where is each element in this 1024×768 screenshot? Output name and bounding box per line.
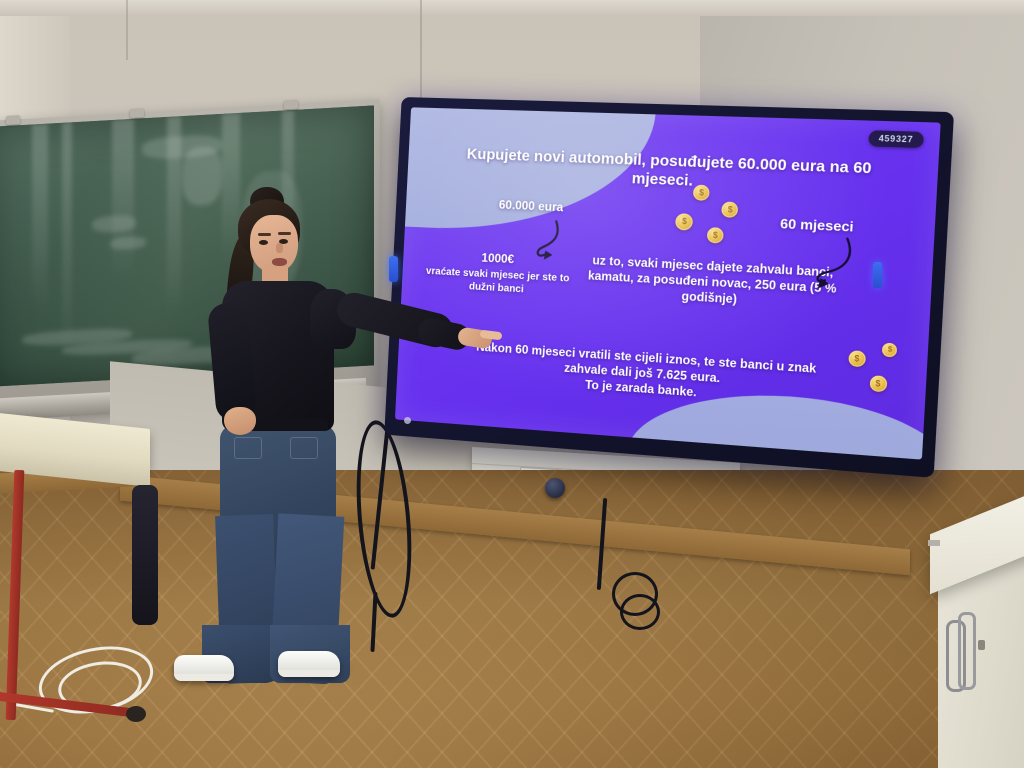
shoe-sole-right bbox=[278, 670, 340, 677]
hand-left bbox=[224, 407, 256, 435]
power-plug bbox=[545, 478, 565, 498]
cabinet-rail bbox=[928, 540, 940, 546]
mouth bbox=[272, 258, 287, 266]
coin-icon: $ bbox=[675, 213, 693, 230]
ceiling-trim bbox=[0, 0, 1024, 16]
shoe-sole-left bbox=[174, 674, 234, 681]
coin-icon: $ bbox=[882, 343, 898, 358]
slide-label-right: 60 mjeseci bbox=[724, 213, 913, 238]
second-person-edge bbox=[132, 485, 158, 625]
classroom-scene: 459327 Kupujete novi automobil, posuđuje… bbox=[0, 0, 1024, 768]
tv-side-button-right[interactable] bbox=[873, 262, 882, 288]
wall-cable-coil-2 bbox=[620, 594, 660, 630]
presenter bbox=[150, 185, 510, 685]
slide-block-middle: uz to, svaki mjesec dajete zahvalu banci… bbox=[583, 254, 843, 314]
wall-seam-secondary bbox=[126, 0, 128, 60]
coin-icon: $ bbox=[707, 227, 724, 243]
slide-badge: 459327 bbox=[868, 130, 924, 148]
nose bbox=[276, 243, 283, 253]
cabinet-handle-right[interactable] bbox=[958, 612, 976, 690]
jeans-pocket-left bbox=[234, 437, 262, 459]
jeans-pocket-right bbox=[290, 437, 318, 459]
coin-icon: $ bbox=[869, 375, 887, 392]
cabinet-lock-icon[interactable] bbox=[978, 640, 985, 650]
desk-foot bbox=[126, 706, 146, 722]
